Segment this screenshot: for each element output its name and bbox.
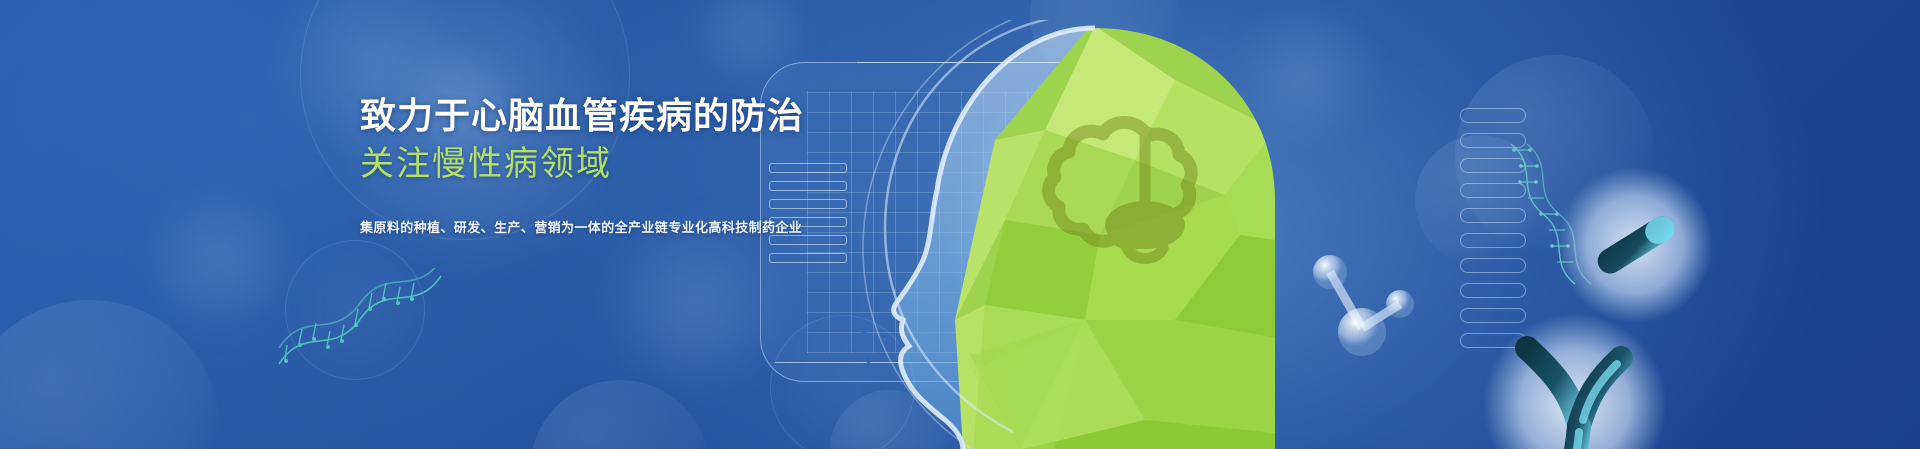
polygonal-head-icon bbox=[845, 20, 1345, 449]
hud-bar bbox=[769, 253, 847, 263]
banner-copy: 致力于心脑血管疾病的防治 关注慢性病领域 集原料的种植、研发、生产、营销为一体的… bbox=[360, 95, 780, 236]
bokeh-circle bbox=[0, 300, 220, 449]
hud-bar bbox=[769, 199, 847, 209]
hud-bar bbox=[769, 163, 847, 173]
bokeh-circle bbox=[530, 380, 710, 449]
page-tagline: 集原料的种植、研发、生产、营销为一体的全产业链专业化高科技制药企业 bbox=[360, 217, 780, 236]
hud-bar bbox=[769, 235, 847, 245]
head-graphic bbox=[845, 20, 1345, 449]
molecule-icon bbox=[1300, 240, 1430, 370]
page-title: 致力于心脑血管疾病的防治 bbox=[360, 95, 780, 137]
page-subtitle: 关注慢性病领域 bbox=[360, 144, 780, 185]
hud-pill bbox=[1460, 108, 1526, 123]
dna-helix-icon bbox=[275, 268, 445, 378]
hud-bar bbox=[769, 181, 847, 191]
cell-with-chromosome-icon bbox=[1475, 300, 1685, 449]
hero-banner: 致力于心脑血管疾病的防治 关注慢性病领域 集原料的种植、研发、生产、营销为一体的… bbox=[0, 0, 1920, 449]
hud-bar-list bbox=[769, 163, 847, 271]
